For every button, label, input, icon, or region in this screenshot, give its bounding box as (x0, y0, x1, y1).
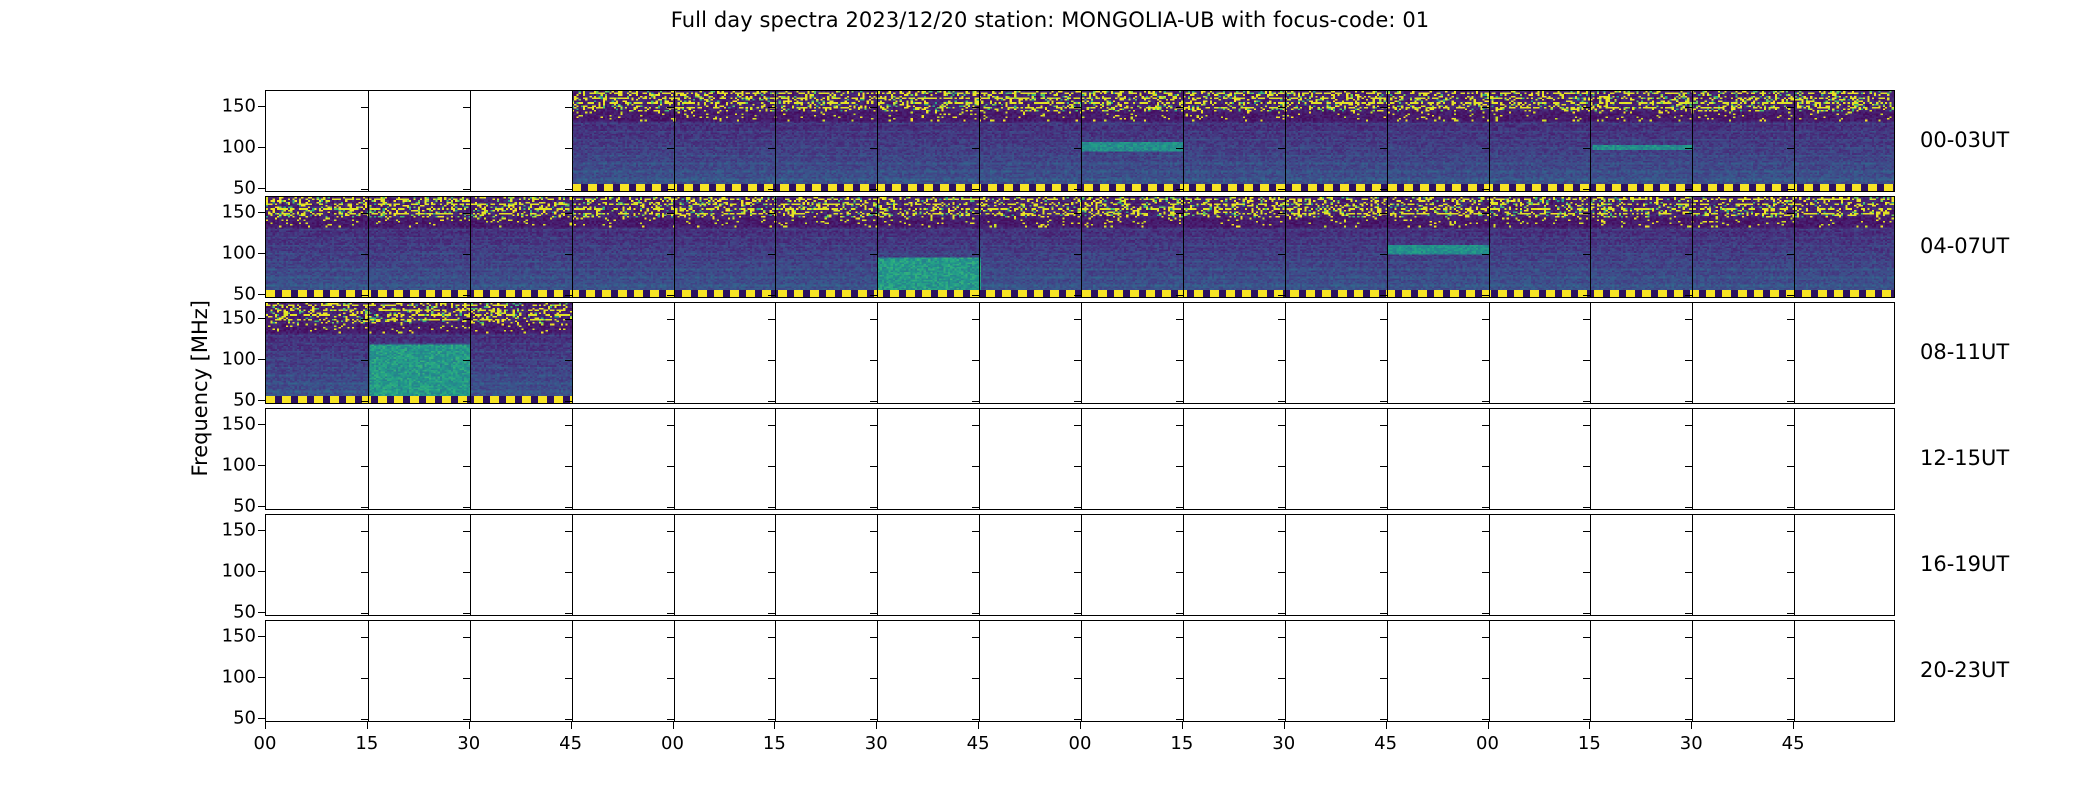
x-tick-mark (1080, 722, 1081, 729)
inner-y-tick-mark (1380, 295, 1387, 296)
x-tick-mark (1793, 722, 1794, 729)
inner-y-tick-mark (565, 319, 572, 320)
inner-y-tick-mark (1074, 507, 1081, 508)
panel-separator (1794, 91, 1795, 191)
row-time-label: 12-15UT (1920, 446, 2009, 470)
inner-y-tick-mark (1278, 254, 1285, 255)
inner-y-tick-mark (1176, 254, 1183, 255)
inner-y-tick-mark (1787, 213, 1794, 214)
x-tick-label: 30 (1680, 733, 1703, 754)
inner-y-tick-mark (870, 507, 877, 508)
inner-y-tick-mark (1380, 613, 1387, 614)
inner-y-tick-mark (565, 295, 572, 296)
inner-y-tick-mark (870, 719, 877, 720)
panel-separator (1590, 515, 1591, 615)
inner-y-tick-mark (1074, 401, 1081, 402)
x-tick-label: 00 (254, 733, 277, 754)
x-tick-mark (265, 722, 266, 729)
panel-separator (674, 91, 675, 191)
y-tick-label: 50 (196, 601, 256, 622)
x-tick-label: 45 (1374, 733, 1397, 754)
inner-y-tick-mark (972, 572, 979, 573)
inner-y-tick-mark (768, 254, 775, 255)
inner-y-tick-mark (1685, 107, 1692, 108)
inner-y-tick-mark (1787, 678, 1794, 679)
inner-y-tick-mark (1685, 401, 1692, 402)
inner-y-tick-mark (565, 425, 572, 426)
inner-y-tick-mark (361, 637, 368, 638)
inner-y-tick-mark (1380, 319, 1387, 320)
inner-y-tick-mark (361, 148, 368, 149)
inner-y-tick-mark (565, 360, 572, 361)
inner-y-tick-mark (1278, 107, 1285, 108)
inner-y-tick-mark (870, 401, 877, 402)
inner-y-tick-mark (1482, 613, 1489, 614)
inner-y-tick-mark (361, 466, 368, 467)
inner-y-tick-mark (1176, 425, 1183, 426)
panel-separator (1692, 409, 1693, 509)
x-tick-mark (367, 722, 368, 729)
inner-y-tick-mark (361, 189, 368, 190)
inner-y-tick-mark (565, 613, 572, 614)
inner-y-tick-mark (1176, 295, 1183, 296)
inner-y-tick-mark (1074, 360, 1081, 361)
inner-y-tick-mark (565, 507, 572, 508)
inner-y-tick-mark (463, 719, 470, 720)
inner-y-tick-mark (361, 254, 368, 255)
x-tick-label: 00 (1476, 733, 1499, 754)
inner-y-tick-mark (1583, 254, 1590, 255)
inner-y-tick-mark (1685, 613, 1692, 614)
panel-separator (1489, 409, 1490, 509)
inner-y-tick-mark (667, 401, 674, 402)
panel-separator (1692, 91, 1693, 191)
panel-separator (1387, 409, 1388, 509)
inner-y-tick-mark (1583, 148, 1590, 149)
inner-y-tick-mark (667, 319, 674, 320)
x-tick-label: 30 (457, 733, 480, 754)
y-tick-label: 100 (196, 349, 256, 370)
panel-separator (1285, 91, 1286, 191)
inner-y-tick-mark (870, 148, 877, 149)
row-time-label: 16-19UT (1920, 552, 2009, 576)
inner-y-tick-mark (1482, 425, 1489, 426)
inner-y-tick-mark (361, 360, 368, 361)
y-tick-label: 100 (196, 667, 256, 688)
x-tick-mark (978, 722, 979, 729)
row-axes-12-15ut[interactable] (265, 408, 1895, 510)
inner-y-tick-mark (1074, 466, 1081, 467)
inner-y-tick-mark (361, 319, 368, 320)
y-tick-label: 50 (196, 177, 256, 198)
inner-y-tick-mark (1380, 531, 1387, 532)
inner-y-tick-mark (1583, 213, 1590, 214)
panel-separator (1285, 515, 1286, 615)
inner-y-tick-mark (1074, 719, 1081, 720)
y-tick-mark (258, 147, 265, 148)
row-time-label: 00-03UT (1920, 128, 2009, 152)
panel-separator (979, 621, 980, 721)
inner-y-tick-mark (1380, 401, 1387, 402)
inner-y-tick-mark (1583, 613, 1590, 614)
panel-separator (979, 409, 980, 509)
x-tick-label: 15 (1170, 733, 1193, 754)
inner-y-tick-mark (667, 466, 674, 467)
inner-y-tick-mark (972, 637, 979, 638)
panel-separator (775, 621, 776, 721)
inner-y-tick-mark (1685, 360, 1692, 361)
inner-y-tick-mark (768, 148, 775, 149)
inner-y-tick-mark (667, 678, 674, 679)
x-tick-label: 30 (1272, 733, 1295, 754)
panel-separator (674, 197, 675, 297)
inner-y-tick-mark (972, 148, 979, 149)
panel-separator (1183, 197, 1184, 297)
panel-separator (1489, 621, 1490, 721)
inner-y-tick-mark (667, 507, 674, 508)
inner-y-tick-mark (1278, 401, 1285, 402)
y-tick-mark (258, 530, 265, 531)
panel-separator (1590, 197, 1591, 297)
panel-separator (877, 409, 878, 509)
inner-y-tick-mark (1685, 213, 1692, 214)
y-tick-label: 50 (196, 389, 256, 410)
x-tick-mark (1589, 722, 1590, 729)
inner-y-tick-mark (1278, 719, 1285, 720)
panel-separator (572, 515, 573, 615)
inner-y-tick-mark (768, 613, 775, 614)
inner-y-tick-mark (565, 678, 572, 679)
panel-separator (877, 91, 878, 191)
inner-y-tick-mark (1583, 531, 1590, 532)
inner-y-tick-mark (565, 189, 572, 190)
inner-y-tick-mark (1278, 213, 1285, 214)
panel-separator (572, 91, 573, 191)
inner-y-tick-mark (768, 466, 775, 467)
inner-y-tick-mark (1482, 572, 1489, 573)
y-tick-label: 100 (196, 137, 256, 158)
inner-y-tick-mark (1685, 189, 1692, 190)
inner-y-tick-mark (1685, 531, 1692, 532)
inner-y-tick-mark (768, 572, 775, 573)
inner-y-tick-mark (1482, 401, 1489, 402)
inner-y-tick-mark (1176, 401, 1183, 402)
inner-y-tick-mark (565, 213, 572, 214)
inner-y-tick-mark (1278, 613, 1285, 614)
inner-y-tick-mark (1176, 613, 1183, 614)
inner-y-tick-mark (1074, 531, 1081, 532)
inner-y-tick-mark (1482, 360, 1489, 361)
inner-y-tick-mark (463, 189, 470, 190)
inner-y-tick-mark (565, 107, 572, 108)
inner-y-tick-mark (565, 148, 572, 149)
inner-y-tick-mark (870, 295, 877, 296)
inner-y-tick-mark (1583, 678, 1590, 679)
inner-y-tick-mark (1685, 319, 1692, 320)
inner-y-tick-mark (1482, 189, 1489, 190)
inner-y-tick-mark (870, 319, 877, 320)
y-tick-label: 100 (196, 455, 256, 476)
inner-y-tick-mark (1583, 507, 1590, 508)
row-axes-16-19ut[interactable] (265, 514, 1895, 616)
panel-separator (674, 303, 675, 403)
inner-y-tick-mark (768, 189, 775, 190)
inner-y-tick-mark (1074, 637, 1081, 638)
panel-separator (470, 91, 471, 191)
y-tick-label: 50 (196, 707, 256, 728)
inner-y-tick-mark (1380, 213, 1387, 214)
row-time-label: 04-07UT (1920, 234, 2009, 258)
inner-y-tick-mark (1583, 466, 1590, 467)
inner-y-tick-mark (1482, 466, 1489, 467)
inner-y-tick-mark (972, 319, 979, 320)
y-tick-mark (258, 636, 265, 637)
inner-y-tick-mark (1176, 148, 1183, 149)
row-axes-04-07ut[interactable] (265, 196, 1895, 298)
inner-y-tick-mark (361, 107, 368, 108)
inner-y-tick-mark (1380, 107, 1387, 108)
panel-separator (979, 303, 980, 403)
spectrogram-data-block (572, 91, 1895, 191)
inner-y-tick-mark (870, 466, 877, 467)
inner-y-tick-mark (1787, 254, 1794, 255)
panel-separator (368, 409, 369, 509)
panel-separator (1183, 409, 1184, 509)
inner-y-tick-mark (1482, 148, 1489, 149)
inner-y-tick-mark (1482, 319, 1489, 320)
inner-y-tick-mark (1176, 678, 1183, 679)
panel-separator (1794, 197, 1795, 297)
y-tick-mark (258, 253, 265, 254)
inner-y-tick-mark (361, 295, 368, 296)
panel-separator (1794, 621, 1795, 721)
inner-y-tick-mark (1380, 360, 1387, 361)
x-tick-label: 15 (355, 733, 378, 754)
inner-y-tick-mark (1685, 295, 1692, 296)
inner-y-tick-mark (1380, 189, 1387, 190)
inner-y-tick-mark (1278, 507, 1285, 508)
inner-y-tick-mark (463, 107, 470, 108)
inner-y-tick-mark (1176, 719, 1183, 720)
inner-y-tick-mark (870, 531, 877, 532)
inner-y-tick-mark (667, 637, 674, 638)
inner-y-tick-mark (972, 613, 979, 614)
panel-separator (368, 515, 369, 615)
spectrogram-row: 50100150 (265, 90, 1895, 192)
inner-y-tick-mark (1074, 572, 1081, 573)
inner-y-tick-mark (972, 719, 979, 720)
inner-y-tick-mark (768, 719, 775, 720)
y-tick-label: 50 (196, 283, 256, 304)
inner-y-tick-mark (768, 401, 775, 402)
inner-y-tick-mark (1685, 466, 1692, 467)
y-tick-mark (258, 424, 265, 425)
row-axes-20-23ut[interactable] (265, 620, 1895, 722)
inner-y-tick-mark (667, 148, 674, 149)
panel-separator (1387, 515, 1388, 615)
inner-y-tick-mark (1278, 425, 1285, 426)
inner-y-tick-mark (1380, 719, 1387, 720)
inner-y-tick-mark (1583, 425, 1590, 426)
inner-y-tick-mark (1482, 107, 1489, 108)
panel-separator (470, 197, 471, 297)
panel-separator (1183, 515, 1184, 615)
spectrogram-data-block (266, 303, 572, 403)
inner-y-tick-mark (463, 531, 470, 532)
y-tick-mark (258, 400, 265, 401)
inner-y-tick-mark (667, 107, 674, 108)
x-tick-mark (673, 722, 674, 729)
panel-separator (470, 409, 471, 509)
panel-separator (674, 621, 675, 721)
inner-y-tick-mark (463, 148, 470, 149)
x-tick-label: 00 (1069, 733, 1092, 754)
y-tick-label: 150 (196, 202, 256, 223)
panel-separator (1387, 197, 1388, 297)
inner-y-tick-mark (1787, 319, 1794, 320)
inner-y-tick-mark (463, 425, 470, 426)
inner-y-tick-mark (1482, 678, 1489, 679)
inner-y-tick-mark (463, 572, 470, 573)
saturated-low-frequency-band (266, 396, 572, 403)
y-tick-label: 150 (196, 414, 256, 435)
panel-separator (368, 303, 369, 403)
inner-y-tick-mark (972, 189, 979, 190)
inner-y-tick-mark (1685, 507, 1692, 508)
inner-y-tick-mark (1380, 507, 1387, 508)
inner-y-tick-mark (870, 107, 877, 108)
row-axes-00-03ut[interactable] (265, 90, 1895, 192)
inner-y-tick-mark (972, 507, 979, 508)
inner-y-tick-mark (1176, 360, 1183, 361)
panel-separator (368, 197, 369, 297)
x-tick-mark (571, 722, 572, 729)
inner-y-tick-mark (361, 572, 368, 573)
inner-y-tick-mark (1278, 678, 1285, 679)
inner-y-tick-mark (870, 213, 877, 214)
y-tick-mark (258, 294, 265, 295)
inner-y-tick-mark (1380, 148, 1387, 149)
y-tick-label: 150 (196, 626, 256, 647)
inner-y-tick-mark (1787, 572, 1794, 573)
y-tick-mark (258, 677, 265, 678)
panel-separator (1285, 197, 1286, 297)
inner-y-tick-mark (870, 189, 877, 190)
inner-y-tick-mark (361, 507, 368, 508)
x-tick-label: 30 (865, 733, 888, 754)
y-tick-mark (258, 318, 265, 319)
inner-y-tick-mark (768, 507, 775, 508)
inner-y-tick-mark (1787, 719, 1794, 720)
inner-y-tick-mark (972, 466, 979, 467)
inner-y-tick-mark (667, 360, 674, 361)
panel-separator (1692, 197, 1693, 297)
panel-separator (775, 409, 776, 509)
inner-y-tick-mark (1278, 637, 1285, 638)
inner-y-tick-mark (463, 254, 470, 255)
inner-y-tick-mark (1787, 466, 1794, 467)
spectrogram-row: 50100150 (265, 408, 1895, 510)
inner-y-tick-mark (1685, 254, 1692, 255)
inner-y-tick-mark (1787, 401, 1794, 402)
inner-y-tick-mark (768, 637, 775, 638)
inner-y-tick-mark (972, 401, 979, 402)
inner-y-tick-mark (870, 637, 877, 638)
panel-separator (877, 515, 878, 615)
inner-y-tick-mark (463, 401, 470, 402)
inner-y-tick-mark (1787, 637, 1794, 638)
inner-y-tick-mark (667, 254, 674, 255)
panel-separator (368, 91, 369, 191)
panel-separator (979, 91, 980, 191)
panel-separator (1692, 515, 1693, 615)
y-tick-label: 100 (196, 561, 256, 582)
inner-y-tick-mark (1176, 637, 1183, 638)
row-axes-08-11ut[interactable] (265, 302, 1895, 404)
inner-y-tick-mark (1583, 107, 1590, 108)
inner-y-tick-mark (1583, 189, 1590, 190)
x-tick-label: 15 (1578, 733, 1601, 754)
panel-separator (775, 91, 776, 191)
inner-y-tick-mark (1380, 425, 1387, 426)
inner-y-tick-mark (972, 425, 979, 426)
panel-separator (1590, 409, 1591, 509)
panel-separator (1489, 303, 1490, 403)
inner-y-tick-mark (1380, 466, 1387, 467)
inner-y-tick-mark (565, 466, 572, 467)
inner-y-tick-mark (1176, 572, 1183, 573)
inner-y-tick-mark (768, 213, 775, 214)
panel-separator (470, 621, 471, 721)
inner-y-tick-mark (565, 719, 572, 720)
inner-y-tick-mark (667, 189, 674, 190)
inner-y-tick-mark (1787, 360, 1794, 361)
inner-y-tick-mark (1787, 531, 1794, 532)
panel-separator (1183, 621, 1184, 721)
inner-y-tick-mark (1583, 295, 1590, 296)
inner-y-tick-mark (361, 613, 368, 614)
panel-separator (775, 303, 776, 403)
inner-y-tick-mark (870, 360, 877, 361)
inner-y-tick-mark (870, 678, 877, 679)
inner-y-tick-mark (972, 107, 979, 108)
inner-y-tick-mark (667, 572, 674, 573)
inner-y-tick-mark (565, 531, 572, 532)
y-tick-mark (258, 359, 265, 360)
inner-y-tick-mark (1278, 531, 1285, 532)
inner-y-tick-mark (768, 107, 775, 108)
panel-separator (1081, 409, 1082, 509)
inner-y-tick-mark (565, 637, 572, 638)
y-tick-mark (258, 506, 265, 507)
x-tick-mark (469, 722, 470, 729)
panel-separator (1081, 621, 1082, 721)
panel-separator (775, 515, 776, 615)
panel-separator (470, 515, 471, 615)
inner-y-tick-mark (1482, 213, 1489, 214)
inner-y-tick-mark (1482, 531, 1489, 532)
inner-y-tick-mark (1583, 637, 1590, 638)
inner-y-tick-mark (1074, 107, 1081, 108)
inner-y-tick-mark (1482, 719, 1489, 720)
inner-y-tick-mark (565, 254, 572, 255)
inner-y-tick-mark (565, 401, 572, 402)
inner-y-tick-mark (1685, 719, 1692, 720)
panel-separator (572, 409, 573, 509)
inner-y-tick-mark (1278, 572, 1285, 573)
panel-separator (877, 621, 878, 721)
inner-y-tick-mark (1074, 189, 1081, 190)
